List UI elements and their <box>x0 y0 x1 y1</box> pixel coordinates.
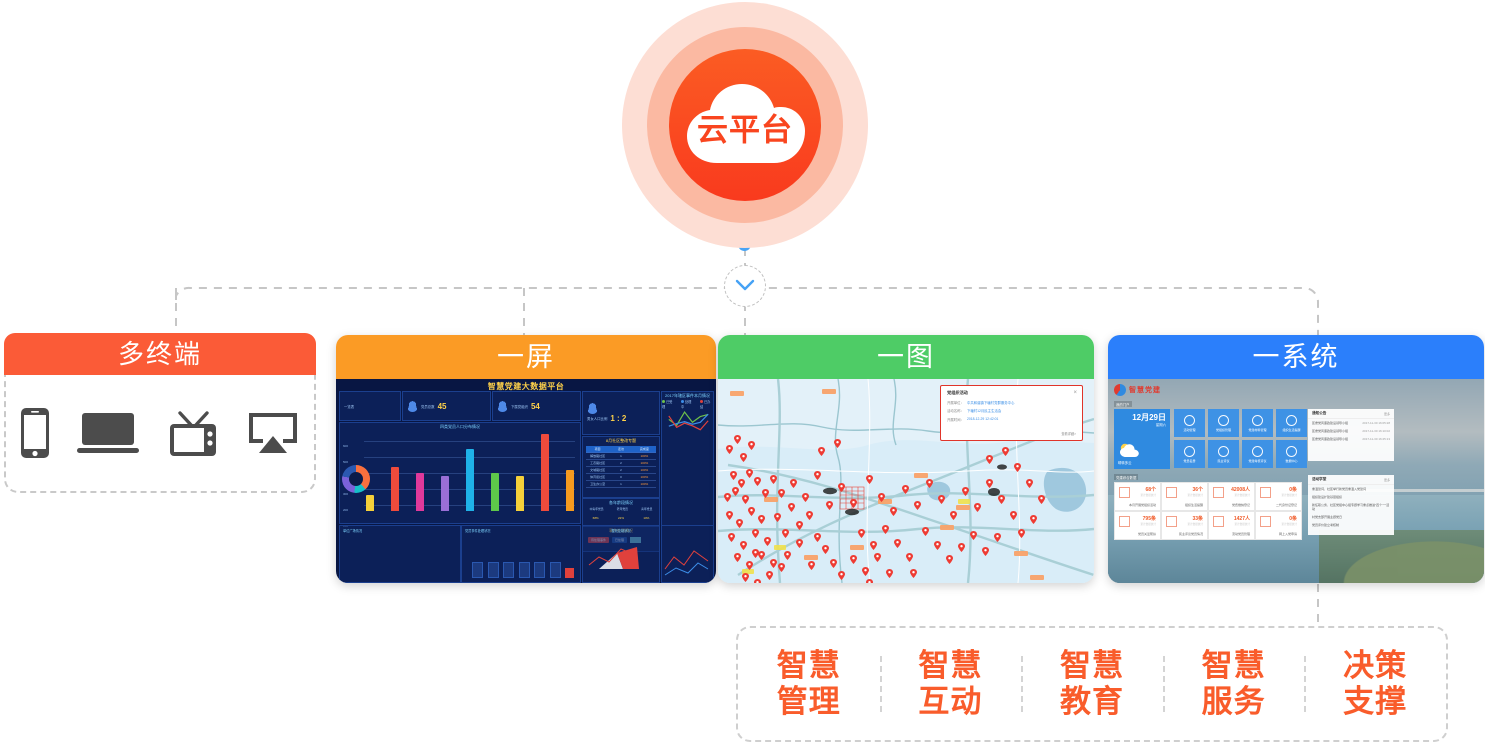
map-pin-marker[interactable] <box>762 485 769 494</box>
edit-icon <box>1119 487 1130 498</box>
dynamic-text: 党员评价建立考核制 <box>1312 523 1339 527</box>
table-header-cell: 完成度 <box>633 447 656 451</box>
monitor-icon <box>1286 446 1297 457</box>
map-pin-marker[interactable] <box>1010 507 1017 516</box>
map-pin-marker[interactable] <box>946 551 953 560</box>
dynamic-box[interactable]: 活动学堂 更多 重温誓词，社区举行新党员重温入党誓词组织建设扩建基层组织新任职公… <box>1308 475 1394 535</box>
map-pin-marker[interactable] <box>740 537 747 546</box>
table-title: 8月社区整改专题 <box>583 438 659 444</box>
bottom-panel-2: 整改控制状况 <box>582 525 660 583</box>
section-label-portal: 我的门户 <box>1114 401 1132 407</box>
clipboard-icon <box>1252 446 1263 457</box>
map-pin-marker[interactable] <box>986 475 993 484</box>
map-pin-marker[interactable] <box>770 471 777 480</box>
map-pin-marker[interactable] <box>866 471 873 480</box>
map-pin-marker[interactable] <box>830 555 837 564</box>
notice-item[interactable]: 区委党风廉政建设领导小组2017-11-30 16:25:13 <box>1308 435 1394 443</box>
map-pin-marker[interactable] <box>754 473 761 482</box>
map-pin-marker[interactable] <box>742 491 749 500</box>
table-panel: 8月社区整改专题 项目走访完成度解放路社区1100%工农路社区2100%文城路社… <box>582 436 660 498</box>
dynamic-text: 组织建设扩建基层组织 <box>1312 495 1342 499</box>
stat-card-label: 党员关爱帮扶 <box>1138 532 1156 536</box>
chevron-down-icon[interactable] <box>724 265 766 307</box>
dynamic-item[interactable]: 村党支部开展主题党日 <box>1308 513 1394 521</box>
map-pin-marker[interactable] <box>758 511 765 520</box>
user-icon <box>497 401 508 412</box>
stat-card-label: 本月开展党组织活动 <box>1129 503 1156 507</box>
map-pin-marker[interactable] <box>866 575 873 583</box>
map-pin-marker[interactable] <box>758 547 765 556</box>
stat-card-label: 二代身份证登记 <box>1276 503 1297 507</box>
table-row: 文城路社区2100% <box>586 467 656 474</box>
map-pin-marker[interactable] <box>958 539 965 548</box>
map-pin-marker[interactable] <box>806 507 813 516</box>
stat-card-value: 68个 <box>1145 486 1156 493</box>
table-cell: 100% <box>633 475 656 479</box>
dynamic-text: 新任职公务、社区党组中心组专题学习重点推进"四个一"活动 <box>1312 503 1390 511</box>
tag-line-1: 智慧 <box>880 648 1022 684</box>
map-pin-marker[interactable] <box>1014 459 1021 468</box>
bottom-panel-0: 单位广场情况 <box>339 525 461 583</box>
map-pin-marker[interactable] <box>796 535 803 544</box>
dashboard-body[interactable]: 智慧党建大数据平台 一览表 党员总数 45 下属党组织 54 <box>336 379 716 583</box>
tag-line-1: 决策 <box>1304 648 1446 684</box>
system-logo[interactable]: 智慧党建 <box>1114 384 1161 396</box>
system-tile-label: 党员名册 <box>1183 459 1195 463</box>
map-pin-marker[interactable] <box>902 481 909 490</box>
date-weather-tile[interactable]: 12月29日 星期六 晴转多云 <box>1114 409 1170 469</box>
map-pin-marker[interactable] <box>730 467 737 476</box>
kpi-label: 下属党组织 <box>511 404 528 409</box>
map-pin-marker[interactable] <box>808 557 815 566</box>
bar <box>366 495 374 511</box>
tag-line-1: 智慧 <box>1163 648 1305 684</box>
bar <box>416 473 424 511</box>
map-pin-marker[interactable] <box>870 537 877 546</box>
map-pin-marker[interactable] <box>962 483 969 492</box>
map-pin-marker[interactable] <box>838 479 845 488</box>
map-pin-marker[interactable] <box>970 527 977 536</box>
dynamic-title: 活动学堂 <box>1312 477 1326 482</box>
group-icon <box>587 403 598 414</box>
map-pin-marker[interactable] <box>726 441 733 450</box>
notice-item[interactable]: 区委党风廉政建设领导小组2017-11-30 16:10:02 <box>1308 427 1394 435</box>
map-pin-marker[interactable] <box>886 565 893 574</box>
map-pin-marker[interactable] <box>1026 475 1033 484</box>
wallet-icon <box>1213 487 1224 498</box>
map-pin-marker[interactable] <box>754 575 761 583</box>
map-pin-marker[interactable] <box>906 549 913 558</box>
capability-tags: 智慧 管理 智慧 互动 智慧 教育 智慧 服务 决策 支撑 <box>736 626 1448 742</box>
map-pin-marker[interactable] <box>788 499 795 508</box>
table-row: 工农路社区2100% <box>586 460 656 467</box>
map-pin-marker[interactable] <box>802 489 809 498</box>
screencast-icon[interactable] <box>246 410 300 456</box>
map-pin-marker[interactable] <box>746 465 753 474</box>
map-pin-marker[interactable] <box>1002 443 1009 452</box>
kpi-label: 男女人口比例 <box>587 416 607 421</box>
map-pin-marker[interactable] <box>882 521 889 530</box>
check-circle-icon <box>1218 415 1229 426</box>
line-chart-panel: 2017年辖区事件本月情况 已受理处理中已办结 <box>661 391 714 526</box>
line-series <box>668 406 709 435</box>
popup-key: 活动名称： <box>947 408 964 413</box>
map-popup[interactable]: × 党组织活动 开展单位：中共和谐镇下塘村党群服务中心 活动名称：下塘村12月民… <box>940 385 1083 441</box>
dynamic-text: 重温誓词，社区举行新党员重温入党誓词 <box>1312 487 1366 491</box>
system-tile-label: 组织生活提醒 <box>1282 428 1300 432</box>
map-pin-marker[interactable] <box>748 437 755 446</box>
logo-mark-icon <box>1114 384 1126 396</box>
table-cell: 2 <box>609 468 632 472</box>
kpi-box-3: 男女人口比例 1 : 2 <box>582 391 660 435</box>
popup-row: 开展单位：中共和谐镇下塘村党群服务中心 <box>947 400 1076 405</box>
notice-text: 区委党风廉政建设领导小组 <box>1312 421 1348 425</box>
panel-one-system-title: 一系统 <box>1108 335 1484 379</box>
panel-terminals-title: 多终端 <box>4 333 316 375</box>
system-tile[interactable]: 数据中心 <box>1276 440 1307 468</box>
apply-icon <box>1260 516 1271 527</box>
tag-item[interactable]: 智慧 教育 <box>1021 648 1163 719</box>
bar <box>516 476 524 511</box>
map-pin-marker[interactable] <box>752 545 759 554</box>
kpi-value: 45 <box>438 402 447 411</box>
notice-more-link[interactable]: 更多 <box>1384 412 1390 416</box>
popup-more-link[interactable]: 查看详细> <box>1061 431 1076 436</box>
stat-card[interactable]: 0条累计数据统计二代身份证登记 <box>1255 482 1302 511</box>
table-cell: 100% <box>633 461 656 465</box>
map-pin-marker[interactable] <box>926 475 933 484</box>
notice-time: 2017-11-30 16:10:02 <box>1362 429 1390 433</box>
map-pin-marker[interactable] <box>796 517 803 526</box>
table-header-row: 项目走访完成度 <box>586 446 656 453</box>
notice-title: 通知公告 <box>1312 411 1326 416</box>
map-pin-marker[interactable] <box>982 543 989 552</box>
dynamic-item[interactable]: 新任职公务、社区党组中心组专题学习重点推进"四个一"活动 <box>1308 501 1394 513</box>
tag-line-2: 服务 <box>1163 684 1305 720</box>
notice-list: 区委党风廉政建设领导小组2017-11-30 16:05:28区委党风廉政建设领… <box>1308 419 1394 443</box>
stat-card-value: 0条 <box>1289 486 1297 493</box>
id-icon <box>1260 487 1271 498</box>
popup-row: 活动名称：下塘村12月民主生活会 <box>947 408 1076 413</box>
system-tile[interactable]: 活动管理 <box>1174 409 1205 437</box>
map-pin-marker[interactable] <box>778 559 785 568</box>
stat-card[interactable]: 42008人累计数据统计党费缴纳登记 <box>1208 482 1255 511</box>
tag-item[interactable]: 智慧 互动 <box>880 648 1022 719</box>
bottom-panel-1-title: 党员事件处理状况 <box>465 528 491 533</box>
bar-chart-panel: 四类党员人口分布情况 600500400300200100 <box>339 422 581 524</box>
table-row: 解放路社区1100% <box>586 453 656 460</box>
popup-value: 下塘村12月民主生活会 <box>967 408 1001 413</box>
tv-icon[interactable] <box>167 407 219 459</box>
tag-item[interactable]: 智慧 管理 <box>738 648 880 719</box>
table-row: 体育街社区0100% <box>586 474 656 481</box>
tag-line-2: 教育 <box>1021 684 1163 720</box>
map-pin-marker[interactable] <box>738 475 745 484</box>
map-pin-marker[interactable] <box>910 565 917 574</box>
table-cell: 100% <box>633 482 656 486</box>
bar-chart-title: 四类党员人口分布情况 <box>340 424 580 430</box>
notice-time: 2017-11-30 16:05:28 <box>1362 421 1390 425</box>
map-pin-marker[interactable] <box>764 533 771 542</box>
tag-line-2: 互动 <box>880 684 1022 720</box>
stat-card-sub: 累计数据统计 <box>1281 522 1297 526</box>
phone-icon[interactable] <box>20 407 50 459</box>
bar <box>391 467 399 511</box>
dynamic-item[interactable]: 组织建设扩建基层组织 <box>1308 493 1394 501</box>
map-pin-marker[interactable] <box>938 491 945 500</box>
map-pin-marker[interactable] <box>732 483 739 492</box>
map-pin-marker[interactable] <box>922 523 929 532</box>
system-tile[interactable]: 党建考核评议 <box>1242 440 1273 468</box>
table-cell: 1 <box>609 454 632 458</box>
table-header-cell: 项目 <box>586 447 609 451</box>
map-pin-marker[interactable] <box>862 563 869 572</box>
system-tile-label: 党建考核评议 <box>1248 459 1266 463</box>
tag-line-1: 智慧 <box>738 648 880 684</box>
tag-item[interactable]: 智慧 服务 <box>1163 648 1305 719</box>
map-pin-marker[interactable] <box>734 549 741 558</box>
stat-card[interactable]: 68个累计数据统计本月开展党组织活动 <box>1114 482 1161 511</box>
donut-chart <box>342 465 370 493</box>
date-weather: 晴转多云 <box>1118 460 1132 465</box>
bottom-panel-0-title: 单位广场情况 <box>343 528 362 533</box>
notice-text: 区委党风廉政建设领导小组 <box>1312 429 1348 433</box>
panel-one-map[interactable]: 一图 <box>718 335 1094 583</box>
heart-icon <box>1119 516 1130 527</box>
kpi-value: 1 : 2 <box>610 414 626 423</box>
book-icon <box>1218 446 1229 457</box>
bottom-panel-1: 党员事件处理状况 <box>461 525 581 583</box>
stat-card[interactable]: 795条累计数据统计党员关爱帮扶 <box>1114 511 1161 540</box>
bar <box>466 449 474 511</box>
map-pin-marker[interactable] <box>834 435 841 444</box>
bar <box>491 473 499 511</box>
popup-row: 开展时间：2018-12-29 12:42:01 <box>947 417 1076 422</box>
popup-title: 党组织活动 <box>947 390 1076 396</box>
map-pin-marker[interactable] <box>1038 491 1045 500</box>
table-cell: 100% <box>633 468 656 472</box>
infographic-stage: 云平台 多终端 <box>0 0 1485 756</box>
stat-card-value: 33条 <box>1192 515 1203 522</box>
cloud-label: 云平台 <box>697 104 793 149</box>
map-pin-marker[interactable] <box>858 525 865 534</box>
popup-value: 中共和谐镇下塘村党群服务中心 <box>967 400 1014 405</box>
panel-one-map-title: 一图 <box>718 335 1094 379</box>
tag-line-2: 管理 <box>738 684 880 720</box>
map-pin-marker[interactable] <box>790 475 797 484</box>
system-tile[interactable]: 民主评议 <box>1208 440 1239 468</box>
kpi-value: 54 <box>531 402 540 411</box>
system-tile-label: 民主评议 <box>1217 459 1229 463</box>
table-cell: 解放路社区 <box>586 454 609 458</box>
kpi-side-label: 一览表 <box>344 404 354 409</box>
map-pin-marker[interactable] <box>784 547 791 556</box>
stat-card-label: 网上入党申请 <box>1279 532 1297 536</box>
tag-line-1: 智慧 <box>1021 648 1163 684</box>
table-cell: 卫生办公室 <box>586 482 609 486</box>
grid-icon <box>1166 516 1177 527</box>
logo-text: 智慧党建 <box>1129 385 1161 395</box>
stat-card-value: 1427人 <box>1234 515 1250 522</box>
stat-card-sub: 累计数据统计 <box>1140 522 1156 526</box>
panel-one-screen[interactable]: 一屏 智慧党建大数据平台 一览表 党员总数 45 下属党组织 54 <box>336 335 716 583</box>
kpi-box-0: 一览表 <box>339 391 401 421</box>
stat-card[interactable]: 1427人累计数据统计流动党员管理 <box>1208 511 1255 540</box>
laptop-icon[interactable] <box>77 411 139 455</box>
compass-icon <box>1184 415 1195 426</box>
map-pin-marker[interactable] <box>782 525 789 534</box>
notice-time: 2017-11-30 16:25:13 <box>1362 437 1390 441</box>
user-icon <box>407 401 418 412</box>
dynamic-list: 重温誓词，社区举行新党员重温入党誓词组织建设扩建基层组织新任职公务、社区党组中心… <box>1308 485 1394 529</box>
stat-card-sub: 累计数据统计 <box>1281 493 1297 497</box>
map-pin-marker[interactable] <box>950 507 957 516</box>
map-pin-marker[interactable] <box>728 529 735 538</box>
system-body[interactable]: 智慧党建 我的门户 党建综合数据 12月29日 星期六 晴转多云 活动管理党组织… <box>1108 379 1484 583</box>
map-pin-marker[interactable] <box>766 567 773 576</box>
map-pin-marker[interactable] <box>822 541 829 550</box>
cloud-platform-badge[interactable]: 云平台 <box>620 0 870 250</box>
send-icon <box>1286 415 1297 426</box>
dynamic-item[interactable]: 党员评价建立考核制 <box>1308 521 1394 529</box>
map-body[interactable]: × 党组织活动 开展单位：中共和谐镇下塘村党群服务中心 活动名称：下塘村12月民… <box>718 379 1094 583</box>
tag-item[interactable]: 决策 支撑 <box>1304 648 1446 719</box>
map-pin-marker[interactable] <box>818 443 825 452</box>
table-cell: 0 <box>609 475 632 479</box>
table-cell: 2 <box>609 461 632 465</box>
map-pin-marker[interactable] <box>814 529 821 538</box>
stat-card-label: 流动党员管理 <box>1232 532 1250 536</box>
age-panel: 各年龄段情况 中青年党员老年党员青年党员 68%22%10% <box>582 498 660 526</box>
user-icon <box>1184 446 1195 457</box>
people-icon <box>1213 516 1224 527</box>
system-tile[interactable]: 党员名册 <box>1174 440 1205 468</box>
map-pin-marker[interactable] <box>778 485 785 494</box>
notice-item[interactable]: 区委党风廉政建设领导小组2017-11-30 16:05:28 <box>1308 419 1394 427</box>
stat-card-sub: 累计数据统计 <box>1140 493 1156 497</box>
system-tile-label: 党组织管理 <box>1216 428 1231 432</box>
table-cell: 工农路社区 <box>586 461 609 465</box>
stat-card[interactable]: 36个累计数据统计组织生活提醒 <box>1161 482 1208 511</box>
data-table: 项目走访完成度解放路社区1100%工农路社区2100%文城路社区2100%体育街… <box>586 446 656 488</box>
popup-value: 2018-12-29 12:42:01 <box>967 417 998 422</box>
map-pin-marker[interactable] <box>914 497 921 506</box>
system-tile[interactable]: 组织生活提醒 <box>1276 409 1307 437</box>
map-pin-marker[interactable] <box>746 557 753 566</box>
stat-card-value: 0条 <box>1289 515 1297 522</box>
popup-key: 开展单位： <box>947 400 964 405</box>
table-cell: 100% <box>633 454 656 458</box>
stat-card-value: 42008人 <box>1231 486 1250 493</box>
tag-line-2: 支撑 <box>1304 684 1446 720</box>
map-pin-marker[interactable] <box>734 431 741 440</box>
system-tile[interactable]: 党建材料管理 <box>1242 409 1273 437</box>
map-pin-marker[interactable] <box>770 555 777 564</box>
map-pin-marker[interactable] <box>814 467 821 476</box>
map-pin-marker[interactable] <box>748 503 755 512</box>
bottom-panel-2-title: 整改控制状况 <box>583 528 659 533</box>
notice-text: 区委党风廉政建设领导小组 <box>1312 437 1348 441</box>
section-label-data: 党建综合数据 <box>1114 474 1138 480</box>
map-pin-marker[interactable] <box>742 569 749 578</box>
stat-card-value: 795条 <box>1143 515 1156 522</box>
system-tile-label: 数据中心 <box>1285 459 1297 463</box>
map-pin-marker[interactable] <box>850 551 857 560</box>
map-pin-marker[interactable] <box>740 449 747 458</box>
table-header-cell: 走访 <box>609 447 632 451</box>
table-cell: 文城路社区 <box>586 468 609 472</box>
map-pin-marker[interactable] <box>752 525 759 534</box>
map-pin-marker[interactable] <box>874 549 881 558</box>
stat-card[interactable]: 0条累计数据统计网上入党申请 <box>1255 511 1302 540</box>
notice-box[interactable]: 通知公告 更多 区委党风廉政建设领导小组2017-11-30 16:05:28区… <box>1308 409 1394 461</box>
search-user-icon <box>1252 415 1263 426</box>
dynamic-text: 村党支部开展主题党日 <box>1312 515 1342 519</box>
map-pin-marker[interactable] <box>994 529 1001 538</box>
panel-one-system[interactable]: 一系统 智慧党建 我的门户 党建综合数据 12月29日 星期六 晴转多云 <box>1108 335 1484 583</box>
map-pin-marker[interactable] <box>726 507 733 516</box>
map-pin-marker[interactable] <box>878 489 885 498</box>
map-pin-marker[interactable] <box>826 497 833 506</box>
stat-card-label: 组织生活提醒 <box>1185 503 1203 507</box>
map-pin-marker[interactable] <box>1030 511 1037 520</box>
stat-card-label: 民主评议党员情况 <box>1179 532 1203 536</box>
bar <box>541 434 549 511</box>
weather-icon <box>1119 442 1141 458</box>
map-pin-marker[interactable] <box>934 537 941 546</box>
stat-card-sub: 累计数据统计 <box>1187 493 1203 497</box>
map-pin-marker[interactable] <box>850 495 857 504</box>
bar <box>566 470 574 511</box>
stat-card-value: 36个 <box>1192 486 1203 493</box>
age-panel-title: 各年龄段情况 <box>583 500 659 506</box>
kpi-box-2: 下属党组织 54 <box>492 391 581 421</box>
map-pin-marker[interactable] <box>774 509 781 518</box>
bar <box>441 476 449 511</box>
stat-card-sub: 累计数据统计 <box>1234 522 1250 526</box>
panel-one-screen-title: 一屏 <box>336 335 716 379</box>
stat-card-label: 党费缴纳登记 <box>1232 503 1250 507</box>
table-cell: 体育街社区 <box>586 475 609 479</box>
map-pin-marker[interactable] <box>724 489 731 498</box>
dynamic-item[interactable]: 重温誓词，社区举行新党员重温入党誓词 <box>1308 485 1394 493</box>
target-icon <box>1166 487 1177 498</box>
dynamic-more-link[interactable]: 更多 <box>1384 478 1390 482</box>
kpi-box-1: 党员总数 45 <box>402 391 491 421</box>
map-pin-marker[interactable] <box>986 451 993 460</box>
close-icon[interactable]: × <box>1073 390 1077 396</box>
popup-key: 开展时间： <box>947 417 964 422</box>
stat-card-sub: 累计数据统计 <box>1234 493 1250 497</box>
map-pin-marker[interactable] <box>894 535 901 544</box>
map-pin-marker[interactable] <box>838 567 845 576</box>
land-shape <box>1319 530 1484 583</box>
system-tile-label: 党建材料管理 <box>1248 428 1266 432</box>
map-pin-marker[interactable] <box>736 515 743 524</box>
system-tile-label: 活动管理 <box>1183 428 1195 432</box>
map-pin-marker[interactable] <box>998 491 1005 500</box>
system-tile[interactable]: 党组织管理 <box>1208 409 1239 437</box>
map-pin-marker[interactable] <box>890 503 897 512</box>
map-pin-marker[interactable] <box>1018 525 1025 534</box>
bottom-panel-3 <box>661 525 714 583</box>
stat-card[interactable]: 33条累计数据统计民主评议党员情况 <box>1161 511 1208 540</box>
table-row: 卫生办公室1100% <box>586 481 656 488</box>
map-pin-marker[interactable] <box>974 499 981 508</box>
panel-terminals[interactable]: 多终端 <box>4 333 316 493</box>
stat-card-sub: 累计数据统计 <box>1187 522 1203 526</box>
bar-series <box>366 437 574 511</box>
